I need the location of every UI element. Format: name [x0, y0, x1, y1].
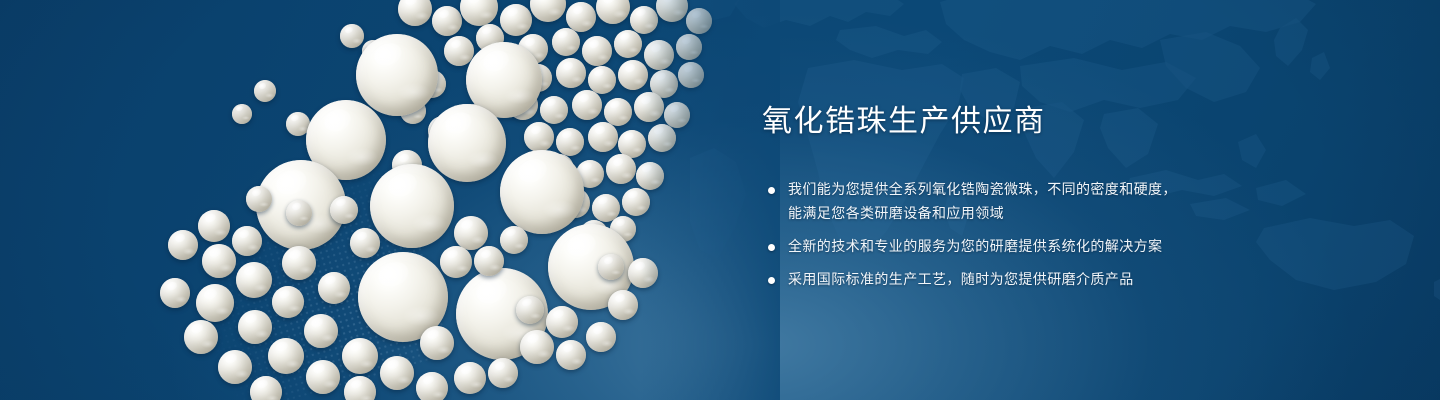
feature-list: 我们能为您提供全系列氧化锆陶瓷微珠，不同的密度和硬度， 能满足您各类研磨设备和应…: [762, 178, 1322, 292]
page-title: 氧化锆珠生产供应商: [762, 104, 1322, 140]
list-item-line: 全新的技术和专业的服务为您的研磨提供系统化的解决方案: [788, 235, 1322, 259]
list-item-line: 我们能为您提供全系列氧化锆陶瓷微珠，不同的密度和硬度，: [788, 178, 1322, 202]
list-item-line: 采用国际标准的生产工艺，随时为您提供研磨介质产品: [788, 268, 1322, 292]
banner-copy: 氧化锆珠生产供应商 我们能为您提供全系列氧化锆陶瓷微珠，不同的密度和硬度， 能满…: [762, 104, 1322, 292]
bullet-dot-icon: [768, 277, 775, 284]
hero-banner: 氧化锆珠生产供应商 我们能为您提供全系列氧化锆陶瓷微珠，不同的密度和硬度， 能满…: [0, 0, 1440, 400]
bullet-dot-icon: [768, 187, 775, 194]
list-item: 采用国际标准的生产工艺，随时为您提供研磨介质产品: [762, 268, 1322, 292]
bullet-dot-icon: [768, 244, 775, 251]
list-item-line: 能满足您各类研磨设备和应用领域: [788, 202, 1322, 226]
list-item: 全新的技术和专业的服务为您的研磨提供系统化的解决方案: [762, 235, 1322, 259]
list-item: 我们能为您提供全系列氧化锆陶瓷微珠，不同的密度和硬度， 能满足您各类研磨设备和应…: [762, 178, 1322, 226]
